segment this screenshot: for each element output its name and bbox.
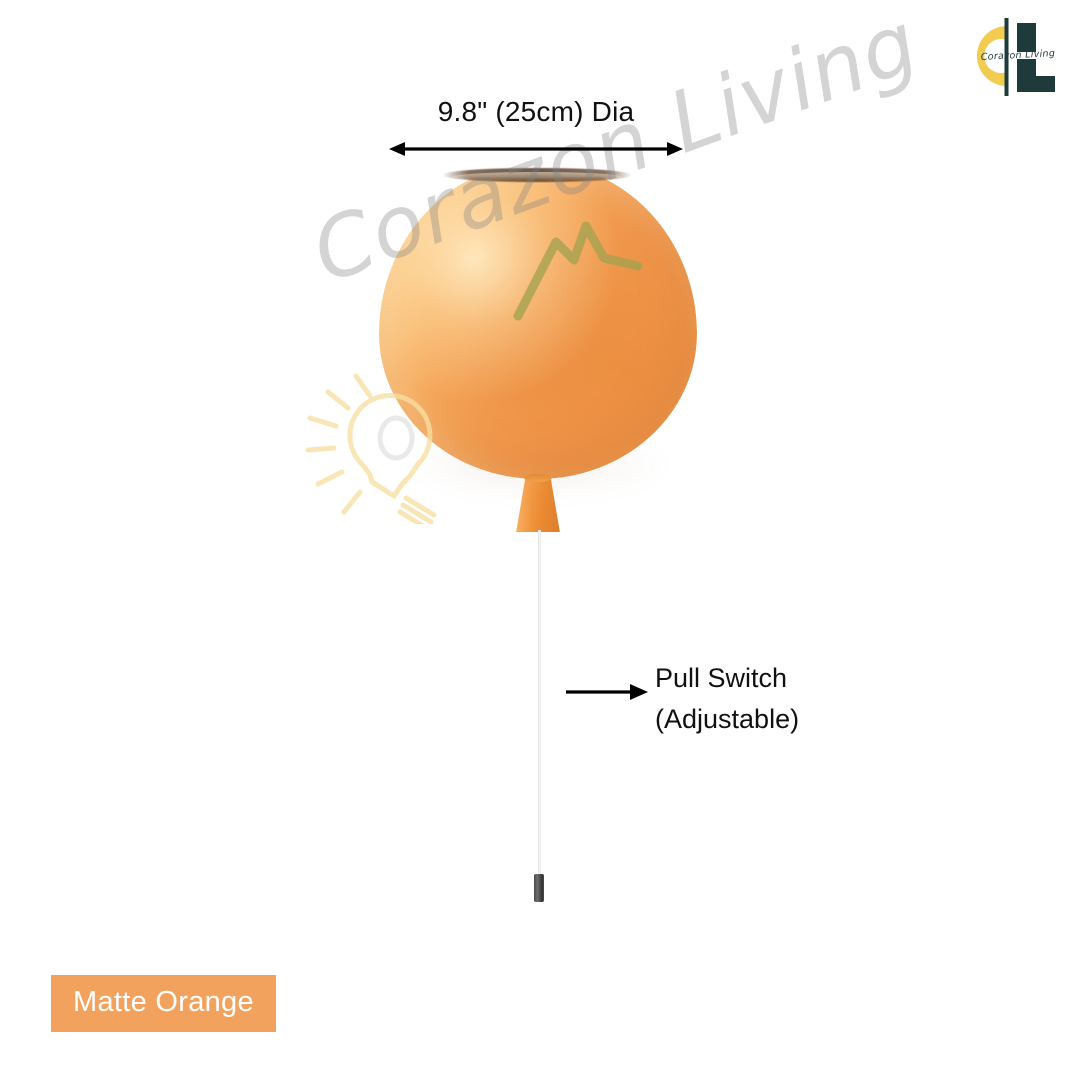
color-variant-badge: Matte Orange — [51, 975, 276, 1032]
dimension-double-arrow-icon — [385, 134, 687, 164]
product-image-canvas: Corazon Living Corazon Living 9.8" (25 — [0, 0, 1080, 1080]
pull-cord — [538, 530, 541, 878]
pull-switch-arrow-icon — [564, 678, 652, 706]
cone-top-cap — [524, 474, 552, 482]
pull-switch-line-1: Pull Switch — [655, 658, 985, 699]
pull-cord-weight — [534, 874, 544, 902]
dimension-label: 9.8" (25cm) Dia — [0, 96, 1080, 128]
pull-switch-callout: Pull Switch (Adjustable) — [655, 658, 985, 740]
dimension-label-text: 9.8" (25cm) Dia — [438, 96, 635, 127]
pull-switch-line-2: (Adjustable) — [655, 699, 985, 740]
lightbulb-watermark-icon — [300, 352, 480, 524]
